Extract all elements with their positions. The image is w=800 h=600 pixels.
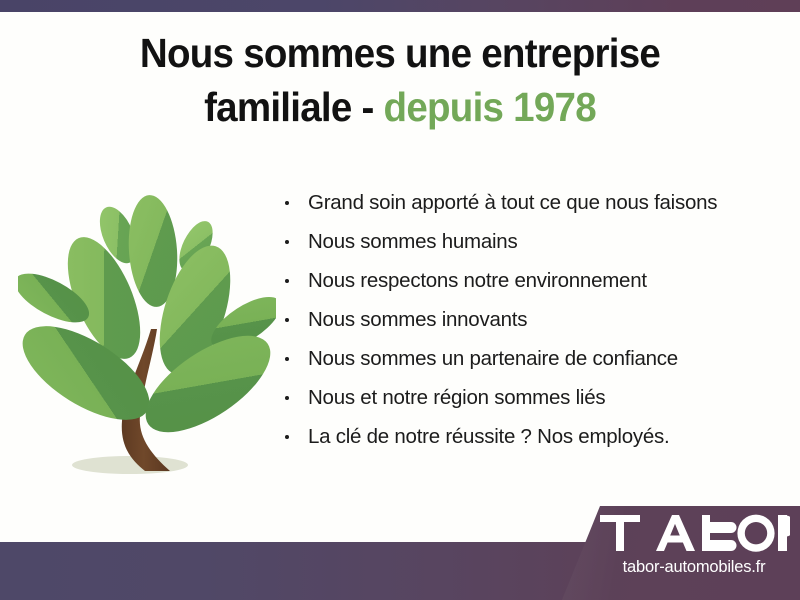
list-item: Nous sommes un partenaire de confiance [282, 349, 782, 370]
list-item-label: Nous et notre région sommes liés [308, 386, 605, 409]
list-item: Nous et notre région sommes liés [282, 388, 782, 409]
list-item-label: La clé de notre réussite ? Nos employés. [308, 425, 669, 448]
value-bullet-list: Grand soin apporté à tout ce que nous fa… [282, 193, 782, 466]
bullet-dot-icon [285, 396, 289, 400]
tabor-logo-wordmark[interactable] [600, 513, 790, 553]
bullet-dot-icon [285, 318, 289, 322]
list-item: Nous respectons notre environnement [282, 271, 782, 292]
list-item: Nous sommes innovants [282, 310, 782, 331]
bullet-dot-icon [285, 279, 289, 283]
headline-line-2-plain: familiale - [204, 84, 383, 130]
list-item-label: Nous respectons notre environnement [308, 269, 647, 292]
bullet-dot-icon [285, 201, 289, 205]
headline-line-2: familiale - depuis 1978 [24, 80, 776, 134]
slide-canvas: Nous sommes une entreprise familiale - d… [0, 0, 800, 600]
list-item: Nous sommes humains [282, 232, 782, 253]
bullet-dot-icon [285, 357, 289, 361]
page-title: Nous sommes une entreprise familiale - d… [24, 26, 776, 134]
logo-url-label[interactable]: tabor-automobiles.fr [596, 558, 792, 577]
list-item-label: Nous sommes un partenaire de confiance [308, 347, 678, 370]
list-item: Grand soin apporté à tout ce que nous fa… [282, 193, 782, 214]
headline-accent: depuis 1978 [384, 84, 596, 130]
bullet-dot-icon [285, 240, 289, 244]
list-item-label: Nous sommes innovants [308, 308, 527, 331]
bullet-dot-icon [285, 435, 289, 439]
top-decorative-bar [0, 0, 800, 12]
list-item-label: Nous sommes humains [308, 230, 517, 253]
tree-leaves [18, 193, 276, 450]
headline-line-1: Nous sommes une entreprise [24, 26, 776, 80]
tree-illustration [18, 188, 276, 488]
list-item: La clé de notre réussite ? Nos employés. [282, 427, 782, 448]
list-item-label: Grand soin apporté à tout ce que nous fa… [308, 191, 717, 214]
tree-shadow [72, 456, 188, 474]
